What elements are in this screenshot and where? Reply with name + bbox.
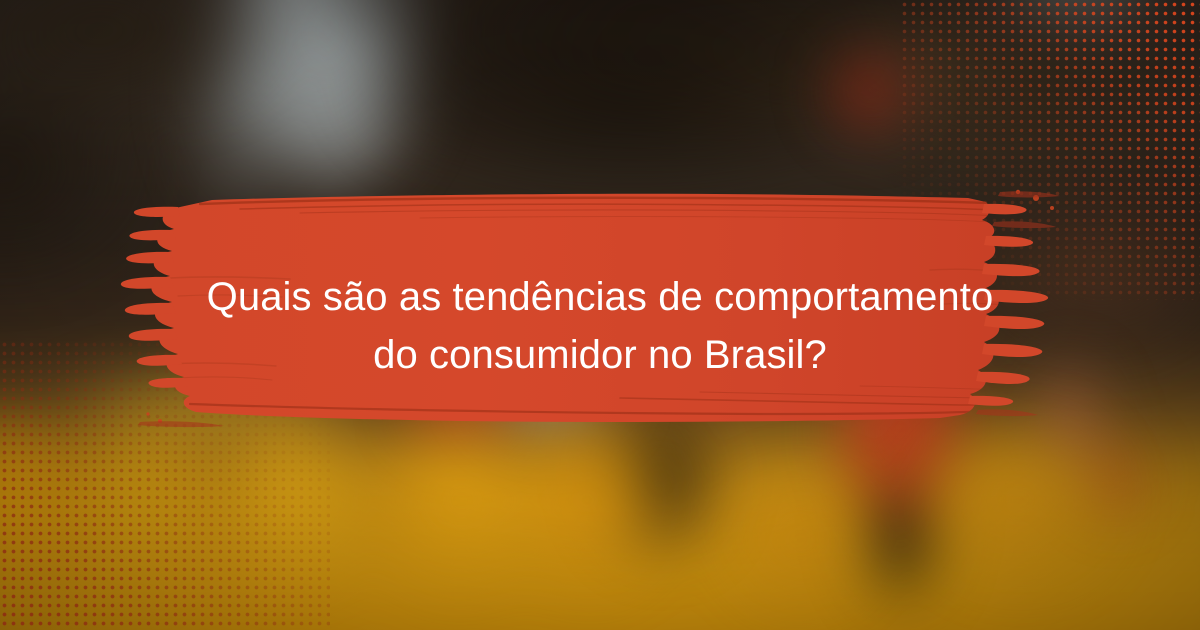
headline-line-2: do consumidor no Brasil? <box>0 326 1200 384</box>
share-card: Quais são as tendências de comportamento… <box>0 0 1200 630</box>
headline: Quais são as tendências de comportamento… <box>0 268 1200 384</box>
headline-line-1: Quais são as tendências de comportamento <box>0 268 1200 326</box>
